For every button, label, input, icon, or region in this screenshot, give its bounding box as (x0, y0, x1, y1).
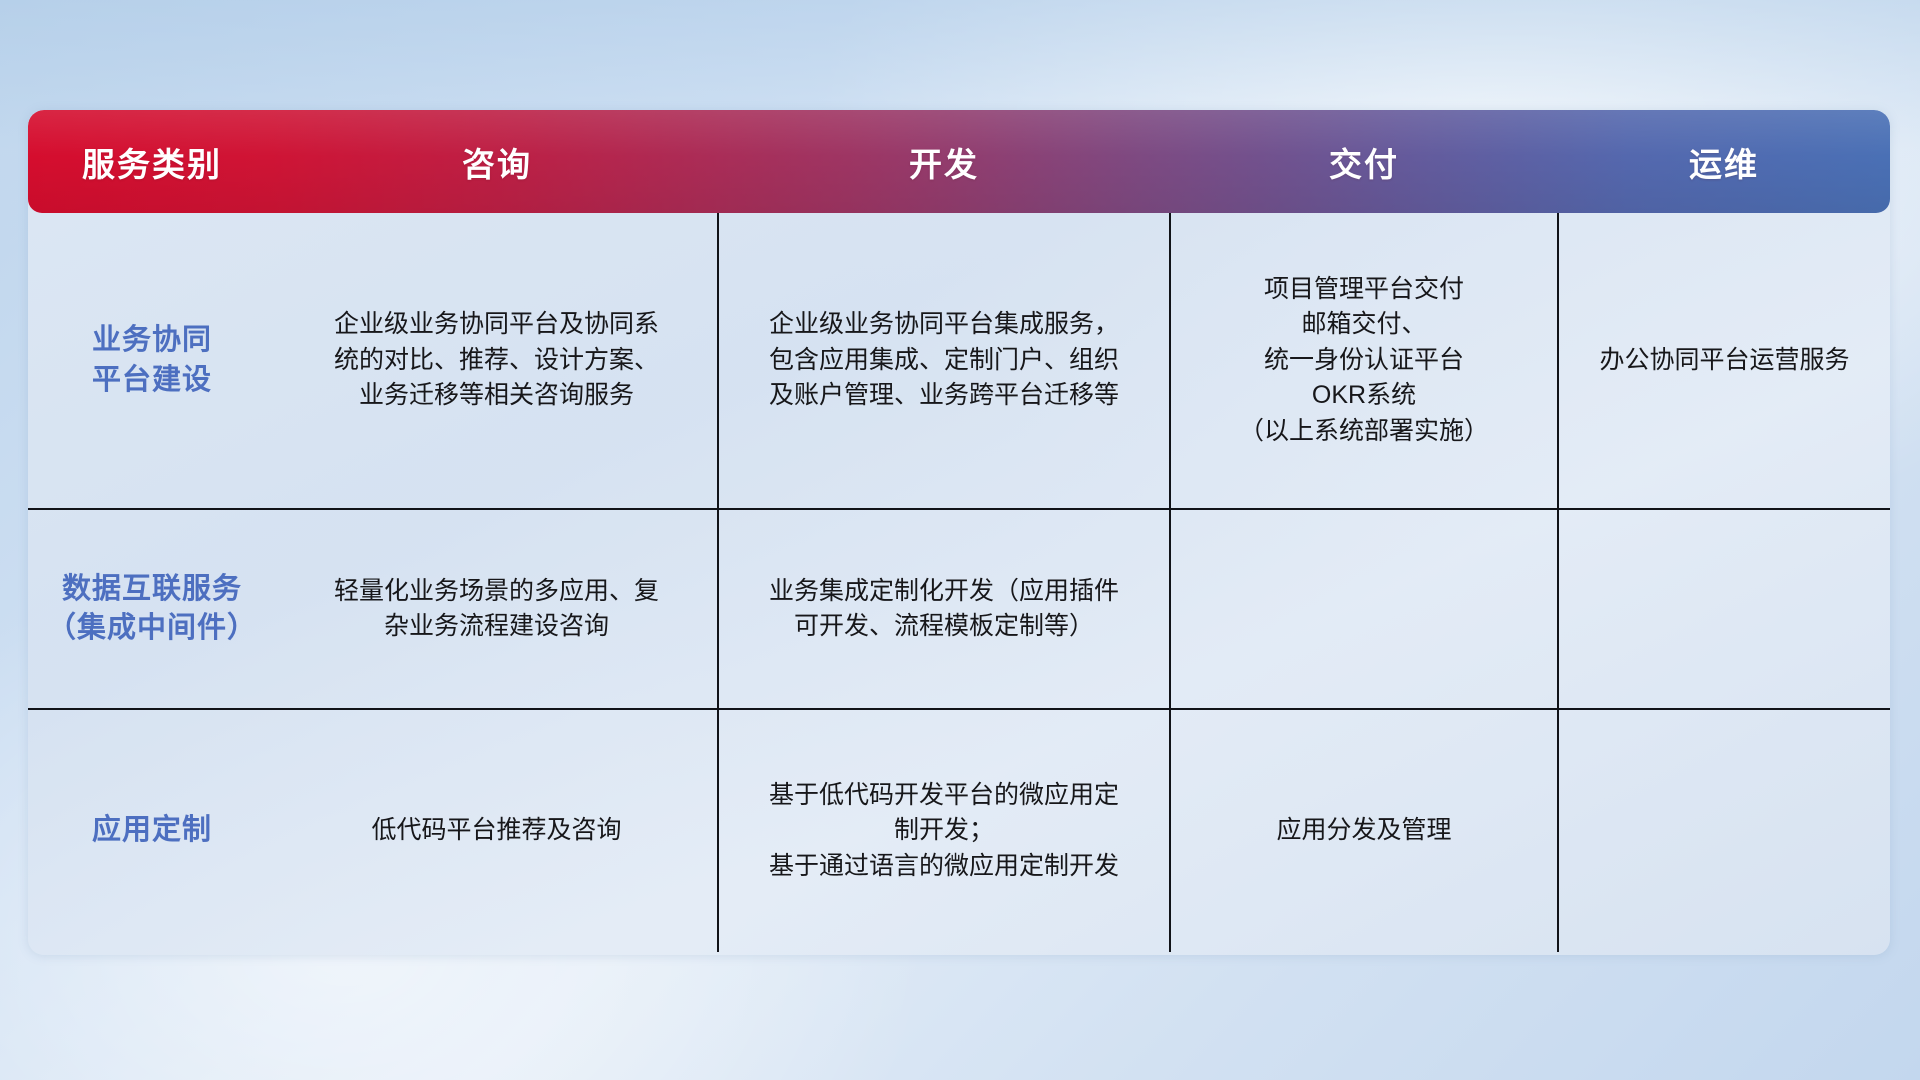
header-cell-delivery: 交付 (1170, 110, 1558, 213)
row-category-label: 应用定制 (28, 709, 276, 952)
table-row: 数据互联服务 （集成中间件） 轻量化业务场景的多应用、复 杂业务流程建设咨询 业… (28, 509, 1890, 709)
cell-consulting: 低代码平台推荐及咨询 (276, 709, 718, 952)
cell-delivery: 项目管理平台交付 邮箱交付、 统一身份认证平台 OKR系统 （以上系统部署实施） (1170, 213, 1558, 509)
cell-consulting: 轻量化业务场景的多应用、复 杂业务流程建设咨询 (276, 509, 718, 709)
row-category-label: 业务协同 平台建设 (28, 213, 276, 509)
header-cell-development: 开发 (718, 110, 1170, 213)
cell-delivery: 应用分发及管理 (1170, 709, 1558, 952)
table-row: 业务协同 平台建设 企业级业务协同平台及协同系 统的对比、推荐、设计方案、 业务… (28, 213, 1890, 509)
row-category-label: 数据互联服务 （集成中间件） (28, 509, 276, 709)
cell-development: 企业级业务协同平台集成服务， 包含应用集成、定制门户、组织 及账户管理、业务跨平… (718, 213, 1170, 509)
header-cell-operations: 运维 (1558, 110, 1890, 213)
cell-delivery (1170, 509, 1558, 709)
table-body: 业务协同 平台建设 企业级业务协同平台及协同系 统的对比、推荐、设计方案、 业务… (28, 213, 1890, 952)
service-matrix-table: 服务类别 咨询 开发 交付 运维 业务协同 平台建设 企业级业务协同平台及协同系… (28, 110, 1890, 955)
service-table: 服务类别 咨询 开发 交付 运维 业务协同 平台建设 企业级业务协同平台及协同系… (28, 110, 1890, 952)
cell-operations: 办公协同平台运营服务 (1558, 213, 1890, 509)
table-head: 服务类别 咨询 开发 交付 运维 (28, 110, 1890, 213)
cell-operations (1558, 509, 1890, 709)
cell-development: 基于低代码开发平台的微应用定 制开发； 基于通过语言的微应用定制开发 (718, 709, 1170, 952)
header-row: 服务类别 咨询 开发 交付 运维 (28, 110, 1890, 213)
cell-development: 业务集成定制化开发（应用插件 可开发、流程模板定制等） (718, 509, 1170, 709)
header-cell-category: 服务类别 (28, 110, 276, 213)
cell-consulting: 企业级业务协同平台及协同系 统的对比、推荐、设计方案、 业务迁移等相关咨询服务 (276, 213, 718, 509)
cell-operations (1558, 709, 1890, 952)
table-row: 应用定制 低代码平台推荐及咨询 基于低代码开发平台的微应用定 制开发； 基于通过… (28, 709, 1890, 952)
header-cell-consulting: 咨询 (276, 110, 718, 213)
